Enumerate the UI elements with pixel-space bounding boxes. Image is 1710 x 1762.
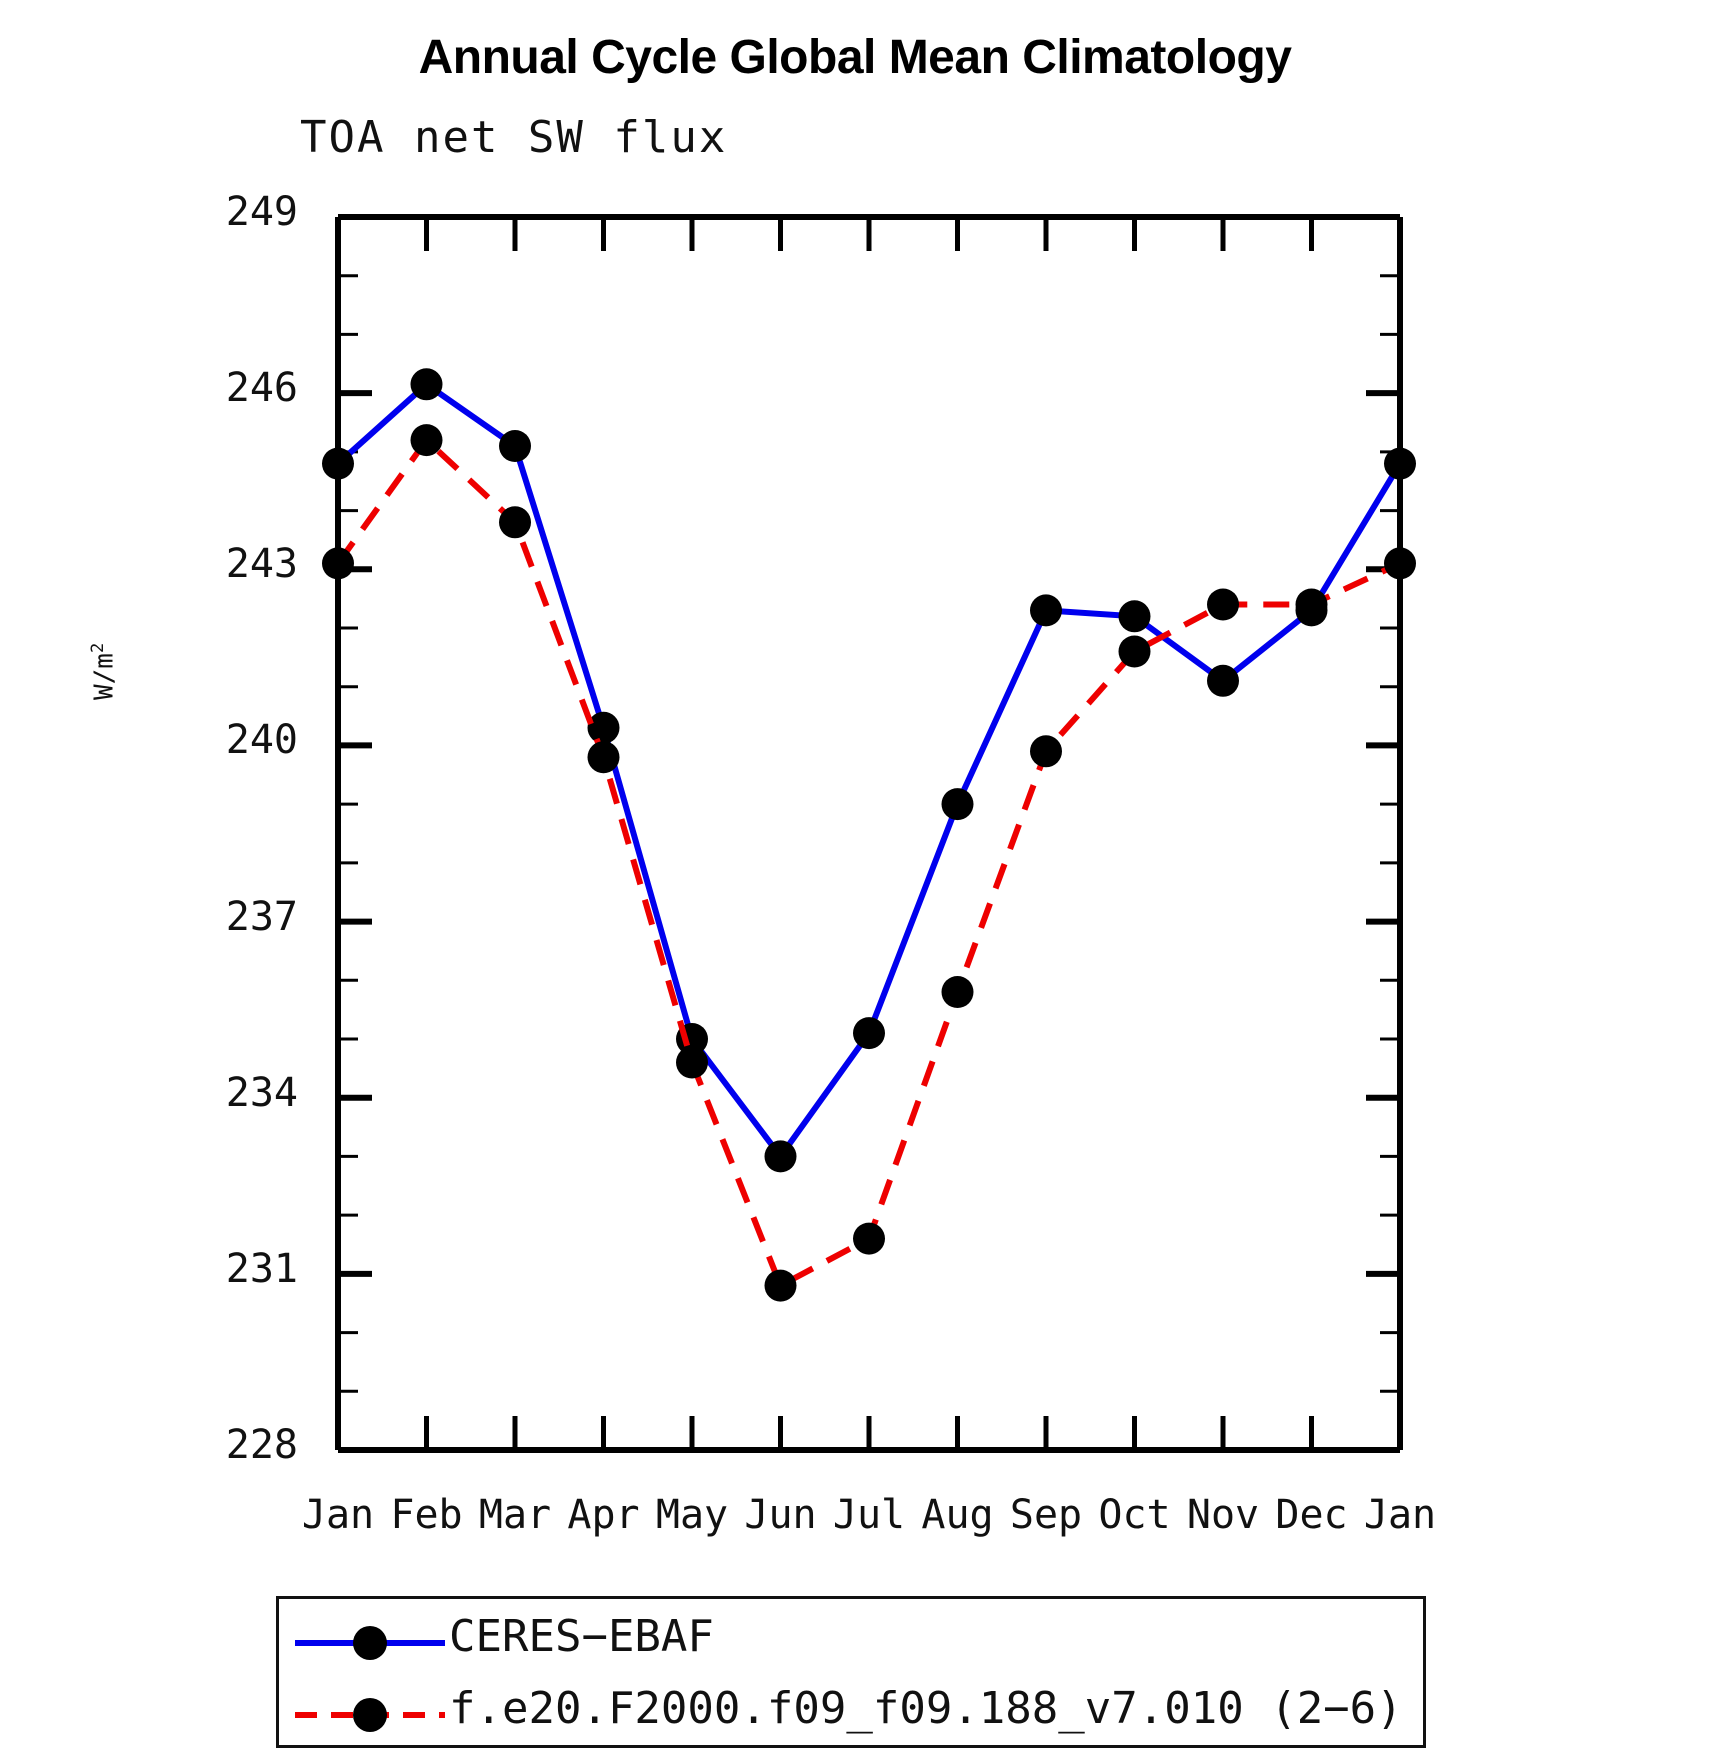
data-point — [765, 1140, 797, 1172]
y-tick-label: 237 — [178, 894, 298, 940]
data-point — [322, 448, 354, 480]
data-point — [765, 1270, 797, 1302]
data-point — [853, 1223, 885, 1255]
y-tick-label: 249 — [178, 189, 298, 235]
legend-swatch-ceres-ebaf — [295, 1613, 445, 1673]
data-point — [588, 741, 620, 773]
data-point — [499, 506, 531, 538]
data-point — [1384, 547, 1416, 579]
data-point — [1384, 448, 1416, 480]
data-point — [588, 712, 620, 744]
y-tick-label: 228 — [178, 1422, 298, 1468]
chart-figure: Annual Cycle Global Mean Climatology TOA… — [0, 0, 1710, 1762]
series-line-1 — [338, 440, 1400, 1286]
legend-label-0: CERES−EBAF — [449, 1611, 714, 1662]
data-point — [322, 547, 354, 579]
data-point — [942, 976, 974, 1008]
data-point — [1207, 589, 1239, 621]
data-point — [942, 788, 974, 820]
y-tick-label: 243 — [178, 541, 298, 587]
legend: CERES−EBAF f.e20.F2000.f09_f09.188_v7.01… — [276, 1596, 1426, 1748]
data-point — [1119, 600, 1151, 632]
y-tick-label: 246 — [178, 365, 298, 411]
data-point — [853, 1017, 885, 1049]
legend-label-1: f.e20.F2000.f09_f09.188_v7.010 (2−6) — [449, 1683, 1403, 1734]
legend-entry-0: CERES−EBAF — [279, 1613, 1423, 1673]
data-point — [1207, 665, 1239, 697]
data-point — [1030, 735, 1062, 767]
data-point — [499, 430, 531, 462]
data-point — [1296, 589, 1328, 621]
legend-swatch-model — [295, 1685, 445, 1745]
y-tick-label: 231 — [178, 1246, 298, 1292]
data-point — [676, 1047, 708, 1079]
data-point — [1030, 594, 1062, 626]
data-point — [1119, 636, 1151, 668]
y-tick-label: 240 — [178, 717, 298, 763]
y-tick-label: 234 — [178, 1070, 298, 1116]
data-point — [411, 424, 443, 456]
data-point — [411, 368, 443, 400]
legend-entry-1: f.e20.F2000.f09_f09.188_v7.010 (2−6) — [279, 1685, 1423, 1745]
x-tick-label: Jan — [1340, 1492, 1460, 1538]
